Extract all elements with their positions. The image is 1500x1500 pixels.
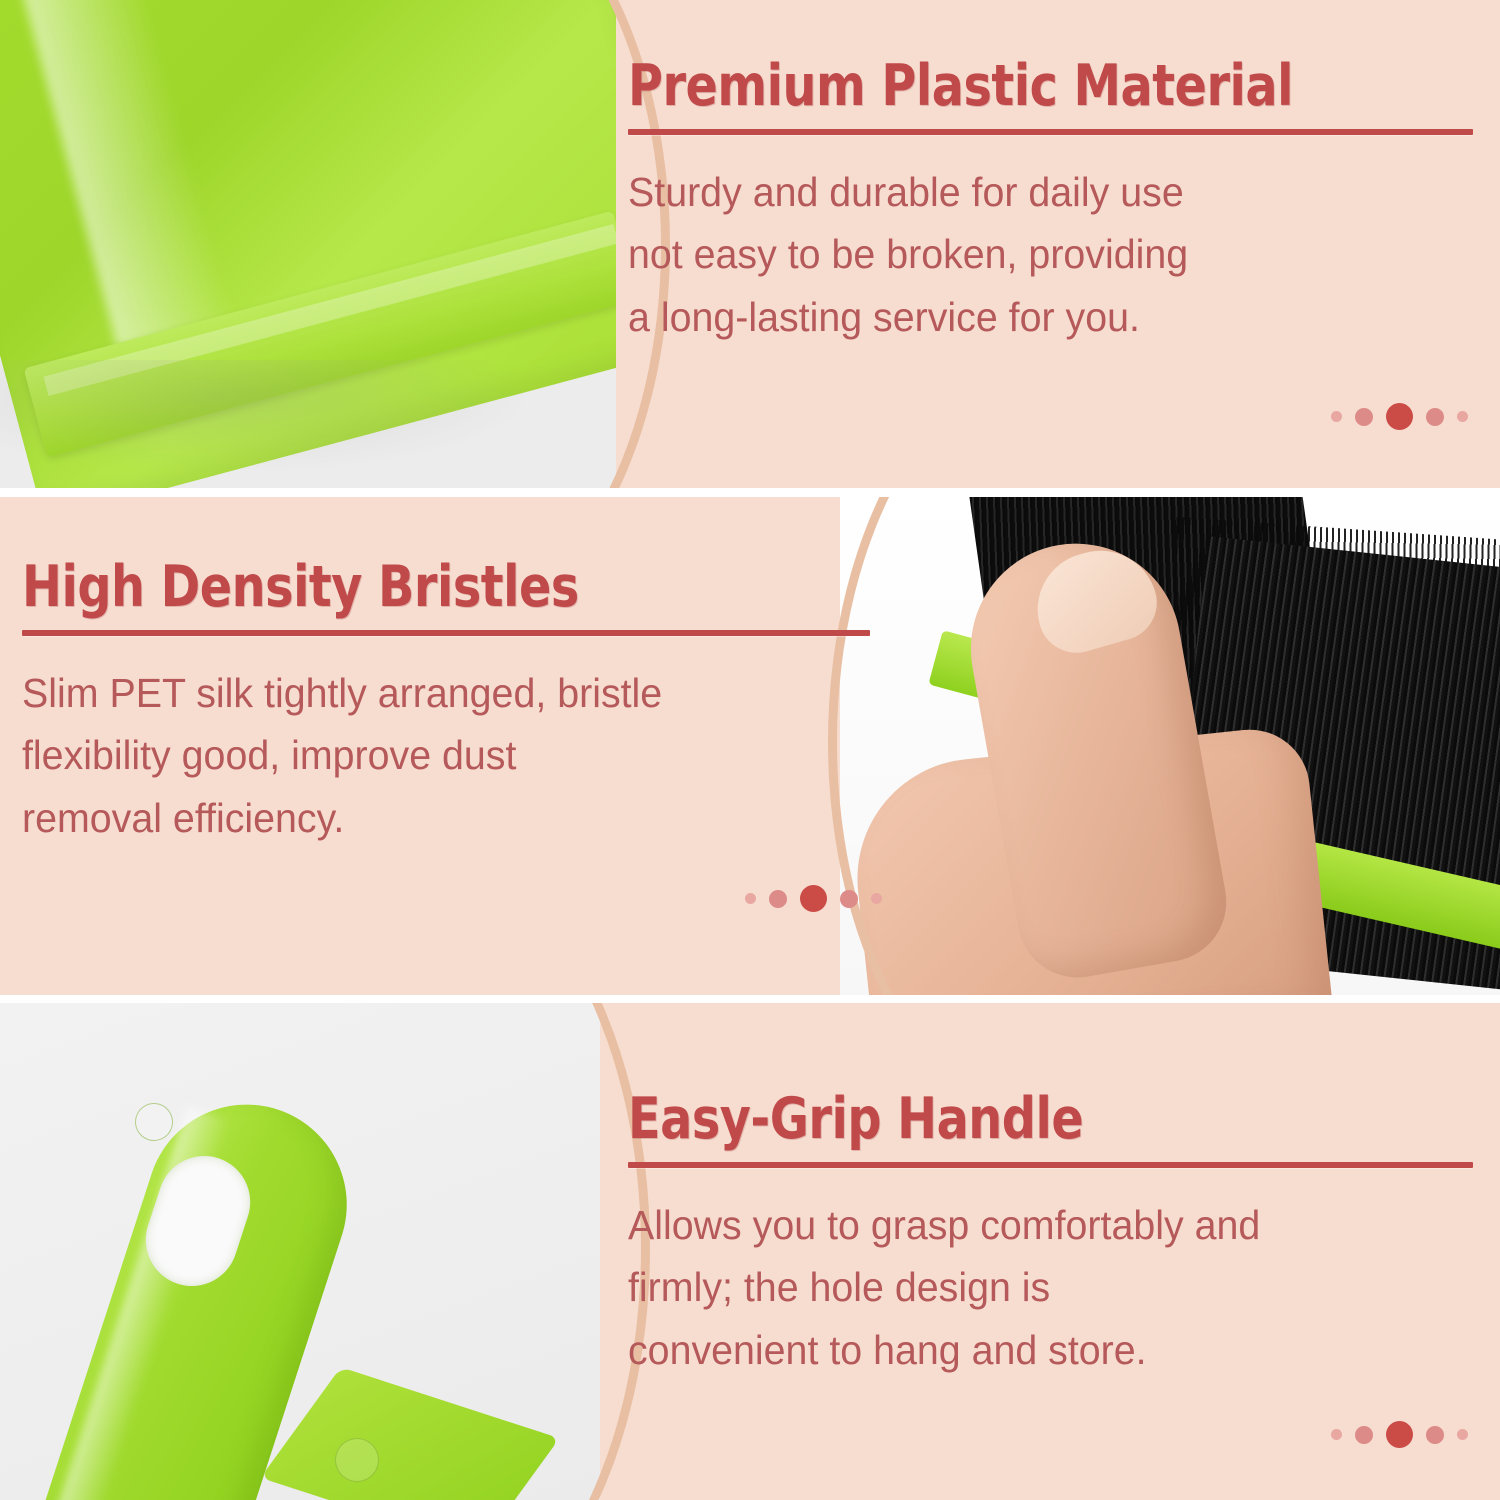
panel1-body-line-1: Sturdy and durable for daily use [628,161,1439,223]
dot-2-icon [1355,408,1373,426]
panel2-body-line-1: Slim PET silk tightly arranged, bristle [22,662,836,724]
feature-panel-easy-grip-handle: Easy-Grip Handle Allows you to grasp com… [0,1003,1500,1500]
dot-5-icon [1457,1429,1468,1440]
panel2-body-line-3: removal efficiency. [22,787,836,849]
panel1-body-line-2: not easy to be broken, providing [628,223,1439,285]
panel3-text-column: Easy-Grip Handle Allows you to grasp com… [628,1091,1473,1381]
panel1-text-column: Premium Plastic Material Sturdy and dura… [628,58,1473,348]
panel3-body-line-3: convenient to hang and store. [628,1319,1439,1381]
dot-3-icon [1386,403,1413,430]
infographic-page: Premium Plastic Material Sturdy and dura… [0,0,1500,1500]
dot-5-icon [1457,411,1468,422]
dustpan-shadow [0,360,560,480]
product-photo-dustpan [0,0,616,488]
panel2-heading: High Density Bristles [22,559,811,616]
dot-4-icon [840,890,858,908]
dot-1-icon [1331,411,1342,422]
panel1-body-line-3: a long-lasting service for you. [628,286,1439,348]
dot-3-icon [1386,1421,1413,1448]
dot-3-icon [800,885,827,912]
panel3-heading: Easy-Grip Handle [628,1091,1414,1148]
panel2-dot-decoration [745,885,882,912]
dot-4-icon [1426,1426,1444,1444]
panel2-body-text: Slim PET silk tightly arranged, bristle … [22,636,836,849]
product-photo-bristles [840,497,1500,995]
feature-panel-high-density-bristles: High Density Bristles Slim PET silk tigh… [0,497,1500,995]
panel1-heading: Premium Plastic Material [628,58,1414,115]
product-photo-handle [0,1003,600,1500]
feature-panel-premium-plastic-material: Premium Plastic Material Sturdy and dura… [0,0,1500,488]
dot-2-icon [1355,1426,1373,1444]
dot-5-icon [871,893,882,904]
panel1-dot-decoration [1331,403,1468,430]
panel3-dot-decoration [1331,1421,1468,1448]
panel3-body-line-1: Allows you to grasp comfortably and [628,1194,1439,1256]
dot-2-icon [769,890,787,908]
panel1-body-text: Sturdy and durable for daily use not eas… [628,135,1439,348]
panel2-text-column: High Density Bristles Slim PET silk tigh… [22,559,870,849]
panel2-body-line-2: flexibility good, improve dust [22,724,836,786]
panel3-body-line-2: firmly; the hole design is [628,1256,1439,1318]
panel3-body-text: Allows you to grasp comfortably and firm… [628,1168,1439,1381]
dot-1-icon [1331,1429,1342,1440]
dot-1-icon [745,893,756,904]
dot-4-icon [1426,408,1444,426]
